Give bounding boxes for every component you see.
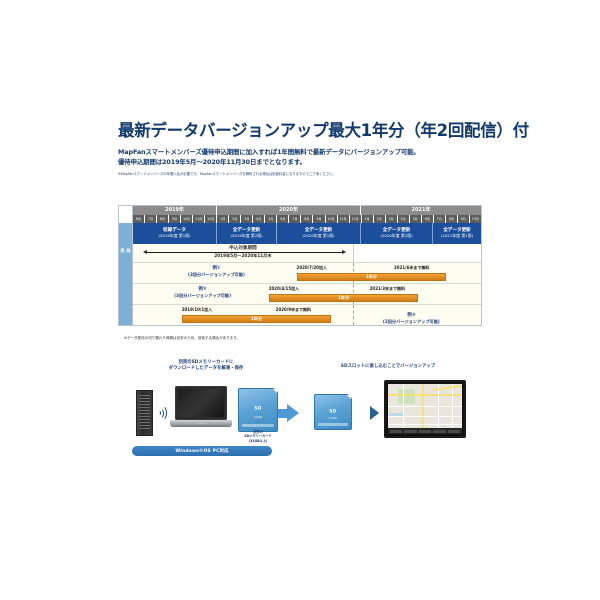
month-cell-0-6: 12月 [205, 215, 217, 223]
laptop-lid [175, 386, 227, 420]
flow-arrow-icon [287, 404, 299, 422]
sd-card-note: 別売の SDメモリーカード (32GB以上) [236, 430, 280, 443]
apply-inactive-area [353, 244, 481, 262]
update-flow-diagram: 別売のSDメモリーカードに ダウンロードしたデータを解凍・保存 SDスロットに差… [118, 352, 482, 470]
apply-range-text: 2019年5月〜2020年11月末 [133, 253, 353, 259]
data-version-cell-1: 全データ更新(2019年度 第2版) [217, 223, 277, 244]
navigation-button-bar [388, 428, 462, 434]
month-cell-2-8: 9月 [458, 215, 470, 223]
example-3-bar: 1年分 [182, 315, 332, 323]
rail-spacer [119, 206, 133, 215]
schedule-note: ※データ配信の切り替わり時期は目安のため、前後する場合があります。 [124, 336, 240, 341]
month-cell-1-6: 7月 [289, 215, 301, 223]
rail-release-4 [119, 283, 133, 304]
apply-title: 申込対象期間 [133, 245, 353, 251]
month-cell-2-7: 8月 [446, 215, 458, 223]
month-cell-1-0: 1月 [217, 215, 229, 223]
year-cell-1: 2020年 [217, 206, 361, 215]
example-2-free-until: 2021/3末まで無料 [370, 286, 405, 292]
sd-card-sub-right: CARD [315, 417, 351, 420]
example-1-bar: 1年分 [297, 273, 447, 281]
data-version-row: 収録データ(2019年度 第1版)全データ更新(2019年度 第2版)全データ更… [119, 223, 481, 244]
data-version-cell-0: 収録データ(2019年度 第1版) [133, 223, 217, 244]
month-cell-2-2: 3月 [386, 215, 398, 223]
sd-card-strip-right [318, 423, 348, 426]
month-cell-1-5: 6月 [277, 215, 289, 223]
data-version-sub-0: (2019年度 第1版) [133, 234, 216, 239]
laptop-icon [170, 386, 232, 436]
example-label-3: 例③ (2回分バージョンアップ可能) [342, 313, 481, 324]
example-label-2-line2: (3回分バージョンアップ可能) [140, 293, 265, 298]
data-version-sub-4: (2021年度 第1版) [433, 234, 481, 239]
rail-release-3 [119, 262, 133, 283]
year-cell-2: 2021年 [361, 206, 481, 215]
example-3-bar-label: 1年分 [251, 316, 262, 322]
month-cell-0-2: 8月 [157, 215, 169, 223]
data-version-cell-2: 全データ更新(2020年度 第1版) [277, 223, 361, 244]
example-label-2: 例② (3回分バージョンアップ可能) [140, 287, 265, 298]
month-cell-0-4: 10月 [181, 215, 193, 223]
insert-arrow-icon [370, 406, 379, 420]
month-cell-1-10: 11月 [338, 215, 350, 223]
example-strip-1: 例① (3回分バージョンアップ可能) 2020/7/20加入 2021/6末まで… [133, 262, 481, 283]
rail-release-2: 発売 [119, 244, 133, 262]
application-period-row: 発売 申込対象期間 2019年5月〜2020年11月末 [119, 244, 481, 262]
example-2-join-date: 2020/4/15加入 [269, 286, 299, 292]
example-strip-3: 2019/10/1加入 2020/9末まで無料 1年分 例③ (2回分バージョン… [133, 304, 481, 325]
sd-card-notch-right [347, 395, 351, 399]
month-cell-2-1: 2月 [374, 215, 386, 223]
month-cell-0-1: 7月 [145, 215, 157, 223]
sd-card-label-right: SD [315, 408, 351, 413]
month-header-row: 6月7月8月9月10月11月12月1月2月3月4月5月6月7月8月9月10月11… [119, 215, 481, 223]
example-3-join-date: 2019/10/1加入 [182, 307, 212, 313]
month-cell-2-3: 4月 [398, 215, 410, 223]
rail-release-5 [119, 304, 133, 325]
month-cell-2-9: 10月 [470, 215, 481, 223]
subtitle-line-2: 優待申込期間は2019年5月〜2020年11月30日までとなります。 [118, 158, 482, 168]
rail-spacer-2 [119, 215, 133, 223]
month-cell-1-3: 4月 [253, 215, 265, 223]
data-version-sub-2: (2020年度 第1版) [277, 234, 360, 239]
year-cell-0: 2019年 [133, 206, 217, 215]
month-cell-2-4: 5月 [410, 215, 422, 223]
example-1-join-date: 2020/7/20加入 [297, 265, 327, 271]
windows-compat-badge: Windows®OS PC対応 [132, 446, 272, 456]
month-cell-1-9: 10月 [326, 215, 338, 223]
month-cell-2-5: 6月 [422, 215, 434, 223]
data-version-sub-3: (2020年度 第2版) [361, 234, 432, 239]
example-3-free-until: 2020/9末まで無料 [276, 307, 311, 313]
year-strip: 2019年2020年2021年 [133, 206, 481, 215]
month-cell-0-3: 9月 [169, 215, 181, 223]
sd-card-strip-left [242, 424, 274, 427]
month-cell-1-2: 3月 [241, 215, 253, 223]
month-cell-1-7: 8月 [301, 215, 313, 223]
desktop-pc-icon [136, 390, 153, 436]
example-label-1: 例① (3回分バージョンアップ可能) [140, 266, 293, 277]
month-cell-1-1: 2月 [229, 215, 241, 223]
month-cell-1-11: 12月 [350, 215, 362, 223]
wifi-signal-icon [156, 404, 168, 420]
caption-left-line2: ダウンロードしたデータを解凍・保存 [146, 366, 266, 372]
windows-compat-label: Windows®OS PC対応 [175, 448, 228, 454]
navigation-map-display [388, 384, 462, 430]
caption-left: 別売のSDメモリーカードに ダウンロードしたデータを解凍・保存 [146, 360, 266, 372]
page-title: 最新データバージョンアップ最大1年分（年2回配信）付 [118, 122, 482, 141]
month-strip: 6月7月8月9月10月11月12月1月2月3月4月5月6月7月8月9月10月11… [133, 215, 481, 223]
data-version-strip: 収録データ(2019年度 第1版)全データ更新(2019年度 第2版)全データ更… [133, 223, 481, 244]
example-label-3-line2: (2回分バージョンアップ可能) [342, 319, 481, 324]
headline-block: 最新データバージョンアップ最大1年分（年2回配信）付 MapFanスマートメンバ… [118, 122, 482, 177]
application-period-strip: 申込対象期間 2019年5月〜2020年11月末 [133, 244, 481, 262]
example-strip-2: 例② (3回分バージョンアップ可能) 2020/4/15加入 2021/3末まで… [133, 283, 481, 304]
sd-card-icon-right: SD CARD [314, 394, 352, 430]
product-info-page: 最新データバージョンアップ最大1年分（年2回配信）付 MapFanスマートメンバ… [0, 0, 600, 600]
month-cell-1-4: 5月 [265, 215, 277, 223]
example-row-1: 例① (3回分バージョンアップ可能) 2020/7/20加入 2021/6末まで… [119, 262, 481, 283]
subtitle-line-1: MapFanスマートメンバーズ優待申込期間に加入すれば1年間無料で最新データにバ… [118, 148, 482, 158]
data-version-sub-1: (2019年度 第2版) [217, 234, 276, 239]
example-row-2: 例② (3回分バージョンアップ可能) 2020/4/15加入 2021/3末まで… [119, 283, 481, 304]
sd-card-icon-left: SD CARD [238, 388, 278, 432]
month-cell-0-5: 11月 [193, 215, 205, 223]
sd-card-label-left: SD [239, 406, 277, 411]
month-cell-0-0: 6月 [133, 215, 145, 223]
laptop-screen [178, 389, 224, 417]
schedule-table: 2019年2020年2021年 6月7月8月9月10月11月12月1月2月3月4… [118, 205, 482, 326]
car-navigation-device [384, 380, 466, 438]
example-2-bar-label: 1年分 [338, 295, 349, 301]
year-header-row: 2019年2020年2021年 [119, 206, 481, 215]
example-label-1-line2: (3回分バージョンアップ可能) [140, 272, 293, 277]
data-version-cell-4: 全データ更新(2021年度 第1版) [433, 223, 481, 244]
rail-label: 発売 [120, 249, 132, 258]
month-cell-1-8: 9月 [313, 215, 325, 223]
fineprint-note: ※MapFanスマートメンバーズの年間入会が必要です。MapFanスマートメンバ… [118, 172, 482, 177]
caption-right: SDスロットに差し込むことでバージョンアップ [308, 364, 468, 370]
month-cell-2-0: 1月 [362, 215, 374, 223]
example-1-free-until: 2021/6末まで無料 [394, 265, 429, 271]
sd-card-notch-left [273, 389, 277, 393]
rail-release [119, 223, 133, 244]
data-version-cell-3: 全データ更新(2020年度 第2版) [361, 223, 433, 244]
example-2-bar: 1年分 [269, 294, 419, 302]
example-row-3: 2019/10/1加入 2020/9末まで無料 1年分 例③ (2回分バージョン… [119, 304, 481, 325]
laptop-trackpad [196, 422, 206, 425]
sd-note-line3: (32GB以上) [236, 439, 280, 443]
sd-card-sub-left: CARD [239, 416, 277, 419]
month-cell-2-6: 7月 [434, 215, 446, 223]
example-1-bar-label: 1年分 [366, 274, 377, 280]
